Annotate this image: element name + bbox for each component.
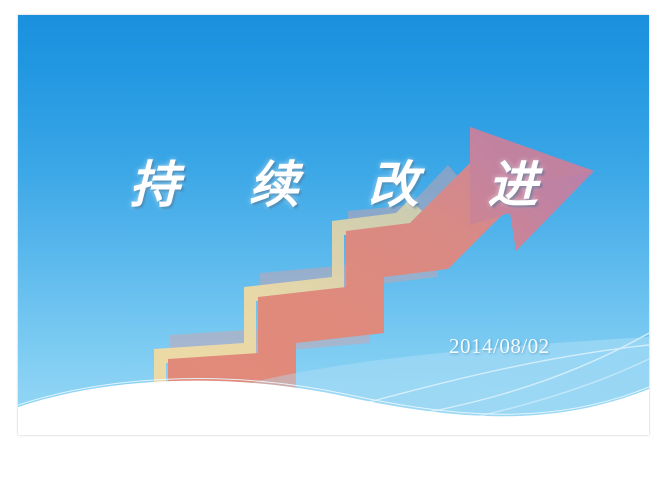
presentation-slide: 持 续 改 进 2014/08/02	[0, 0, 667, 500]
slide-date: 2014/08/02	[449, 334, 550, 359]
slide-artwork	[18, 15, 649, 435]
slide-canvas	[18, 15, 649, 435]
arrow-head	[470, 127, 594, 251]
